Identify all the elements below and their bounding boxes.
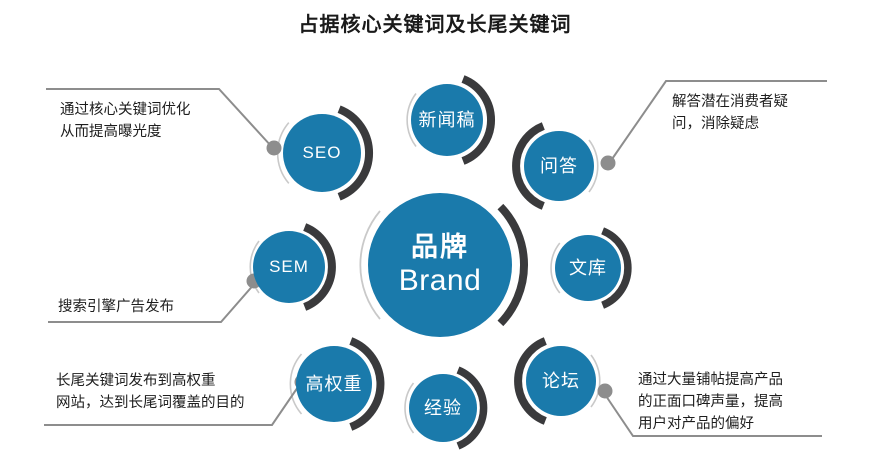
node-library[interactable]: 文库: [555, 235, 621, 301]
node-forum[interactable]: 论坛: [526, 346, 596, 416]
node-experience[interactable]: 经验: [409, 374, 477, 442]
node-news[interactable]: 新闻稿: [411, 84, 483, 156]
callout-qa: 解答潜在消费者疑 问，消除疑虑: [672, 92, 862, 136]
node-seo[interactable]: SEO: [283, 114, 361, 192]
node-qa[interactable]: 问答: [524, 131, 594, 201]
node-forum-label: 论坛: [542, 371, 580, 391]
node-sem-label: SEM: [269, 257, 309, 276]
node-brand-hub[interactable]: 品牌 Brand: [368, 193, 512, 337]
node-library-label: 文库: [569, 258, 607, 278]
infographic-canvas: 占据核心关键词及长尾关键词: [0, 0, 870, 472]
node-seo-label: SEO: [303, 143, 342, 162]
callout-seo: 通过核心关键词优化 从而提高曝光度: [60, 100, 290, 144]
node-sem[interactable]: SEM: [253, 231, 325, 303]
node-brand-hub-cn: 品牌: [399, 232, 482, 262]
leader-dot-forum: [598, 384, 613, 399]
node-high-weight-label: 高权重: [306, 374, 363, 394]
node-high-weight[interactable]: 高权重: [296, 346, 372, 422]
node-brand-hub-en: Brand: [399, 264, 482, 298]
leader-dot-qa: [601, 156, 616, 171]
callout-sem: 搜索引擎广告发布: [58, 297, 278, 319]
callout-high-weight: 长尾关键词发布到高权重 网站，达到长尾词覆盖的目的: [56, 371, 296, 415]
callout-forum: 通过大量铺帖提高产品 的正面口碑声量，提高 用户对产品的偏好: [638, 370, 848, 435]
node-news-label: 新闻稿: [419, 110, 476, 130]
node-qa-label: 问答: [540, 156, 578, 176]
node-experience-label: 经验: [424, 398, 462, 418]
